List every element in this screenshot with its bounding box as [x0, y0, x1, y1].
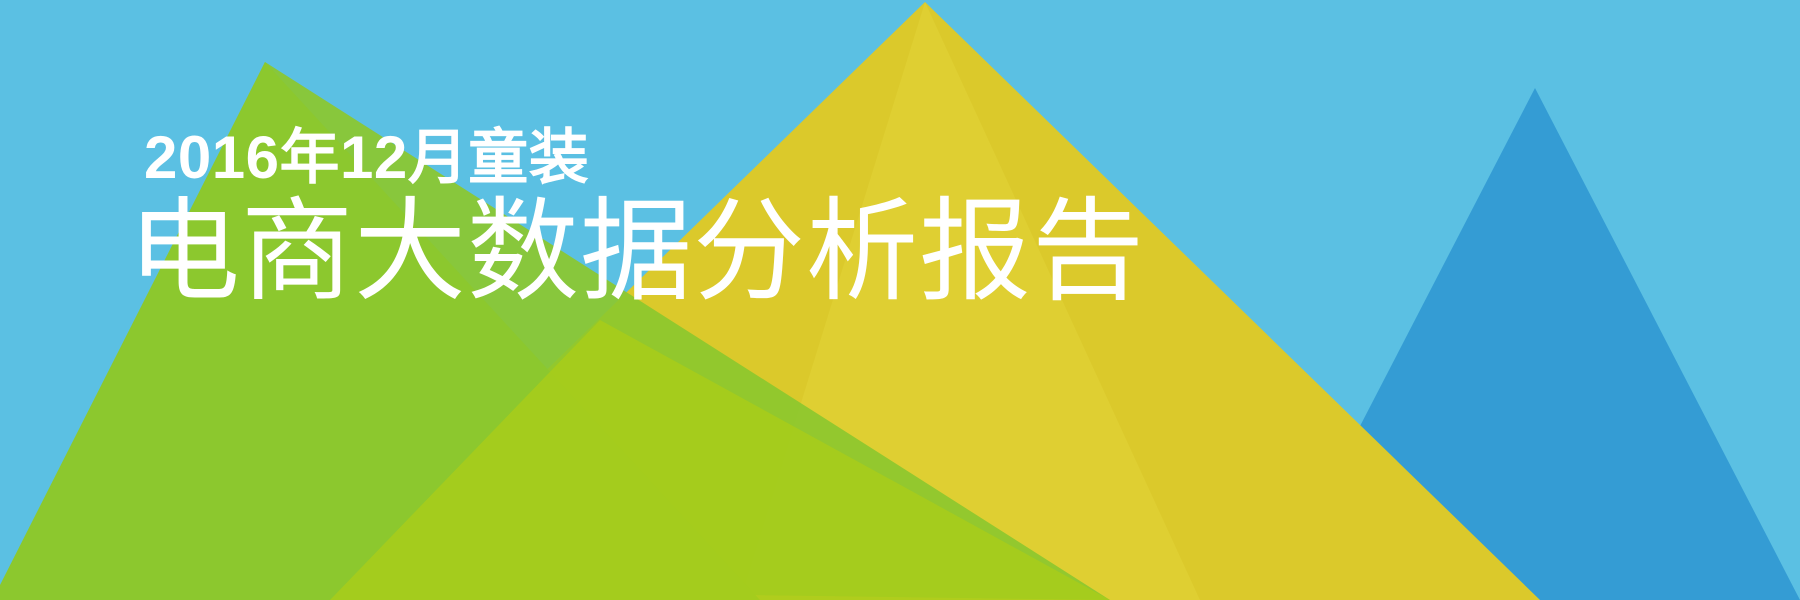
- decorative-background: [0, 0, 1800, 600]
- report-cover-slide: 2016年12月童装 电商大数据分析报告: [0, 0, 1800, 600]
